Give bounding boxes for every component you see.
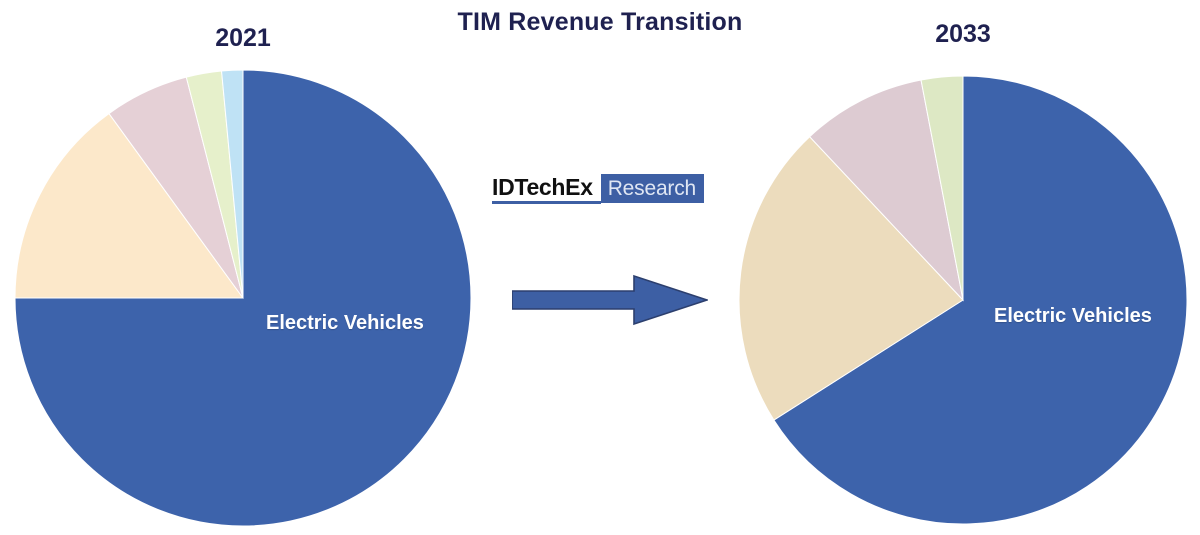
pie-2021-slices	[15, 70, 471, 526]
pie-chart-2021	[13, 68, 473, 528]
pie-2033-slices	[739, 76, 1187, 524]
transition-right-arrow-icon	[512, 272, 708, 328]
chart-canvas: TIM Revenue Transition 2021 2033 Electri…	[0, 0, 1200, 535]
slice-label-electric-vehicles-2033: Electric Vehicles	[994, 305, 1152, 328]
pie-2021-svg	[13, 68, 473, 528]
pie-chart-2033	[737, 74, 1189, 526]
idtechex-research-badge: Research	[601, 174, 704, 203]
slice-label-electric-vehicles-2021: Electric Vehicles	[266, 312, 424, 335]
arrow-polygon	[512, 276, 707, 324]
page-title: TIM Revenue Transition	[300, 8, 900, 37]
idtechex-logo: IDTechEx Research	[492, 174, 704, 204]
right-arrow-icon	[512, 272, 708, 328]
idtechex-wordmark: IDTechEx	[492, 174, 601, 204]
pie-2033-svg	[737, 74, 1189, 526]
pie-year-label-2021: 2021	[113, 24, 373, 53]
pie-year-label-2033: 2033	[833, 20, 1093, 49]
